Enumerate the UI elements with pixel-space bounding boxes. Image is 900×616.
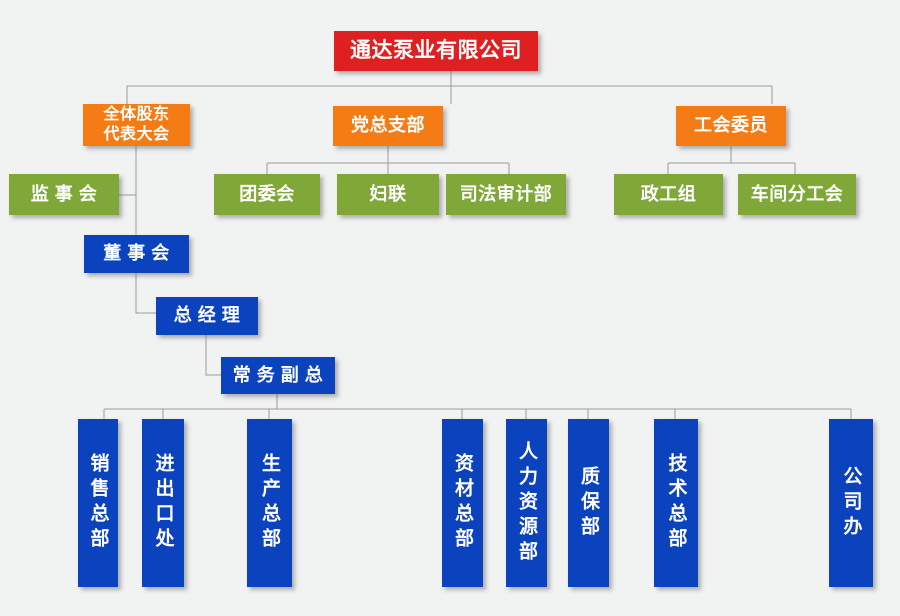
node-executive-vp[interactable]: 常 务 副 总 [221, 357, 335, 394]
org-chart: 通达泵业有限公司 全体股东 代表大会 党总支部 工会委员 监 事 会 团委会 妇… [0, 0, 900, 616]
node-company-office[interactable]: 公司办 [829, 419, 873, 587]
line-board-to-gm [136, 273, 156, 313]
node-production-hq[interactable]: 生产总部 [247, 419, 292, 587]
node-import-export[interactable]: 进出口处 [142, 419, 184, 587]
node-sales-hq-label: 销售总部 [89, 453, 108, 553]
node-judicial-audit-label: 司法审计部 [460, 184, 553, 206]
node-materials-hq[interactable]: 资材总部 [442, 419, 483, 587]
node-general-manager[interactable]: 总 经 理 [156, 297, 258, 335]
node-board-of-directors-label: 董 事 会 [103, 243, 170, 265]
node-workshop-union-label: 车间分工会 [751, 184, 844, 206]
node-human-resources[interactable]: 人力资源部 [506, 419, 547, 587]
node-shareholders[interactable]: 全体股东 代表大会 [83, 104, 190, 146]
node-political-work[interactable]: 政工组 [614, 174, 723, 215]
node-sales-hq[interactable]: 销售总部 [78, 419, 118, 587]
line-gm-to-evp [206, 335, 221, 375]
node-executive-vp-label: 常 务 副 总 [233, 365, 324, 387]
node-womens-federation-label: 妇联 [370, 184, 407, 206]
node-import-export-label: 进出口处 [154, 453, 173, 553]
node-youth-league[interactable]: 团委会 [214, 174, 320, 215]
node-judicial-audit[interactable]: 司法审计部 [446, 174, 566, 215]
node-union-committee-label: 工会委员 [694, 115, 768, 137]
node-root-label: 通达泵业有限公司 [350, 38, 522, 64]
node-womens-federation[interactable]: 妇联 [337, 174, 439, 215]
node-technology-hq[interactable]: 技术总部 [654, 419, 698, 587]
node-supervisory-board[interactable]: 监 事 会 [9, 174, 119, 215]
node-union-committee[interactable]: 工会委员 [676, 106, 786, 146]
node-shareholders-label: 全体股东 代表大会 [103, 105, 169, 144]
node-production-hq-label: 生产总部 [260, 453, 279, 553]
node-board-of-directors[interactable]: 董 事 会 [84, 235, 189, 273]
node-political-work-label: 政工组 [641, 184, 697, 206]
node-materials-hq-label: 资材总部 [453, 453, 472, 553]
node-workshop-union[interactable]: 车间分工会 [738, 174, 856, 215]
node-human-resources-label: 人力资源部 [517, 441, 536, 566]
node-general-manager-label: 总 经 理 [174, 305, 241, 327]
node-party-branch[interactable]: 党总支部 [333, 106, 443, 146]
node-youth-league-label: 团委会 [239, 184, 295, 206]
node-party-branch-label: 党总支部 [351, 115, 425, 137]
node-quality-assurance-label: 质保部 [579, 466, 598, 541]
node-quality-assurance[interactable]: 质保部 [568, 419, 609, 587]
node-company-office-label: 公司办 [842, 466, 861, 541]
node-supervisory-board-label: 监 事 会 [31, 184, 98, 206]
node-technology-hq-label: 技术总部 [667, 453, 686, 553]
node-root[interactable]: 通达泵业有限公司 [334, 31, 538, 71]
